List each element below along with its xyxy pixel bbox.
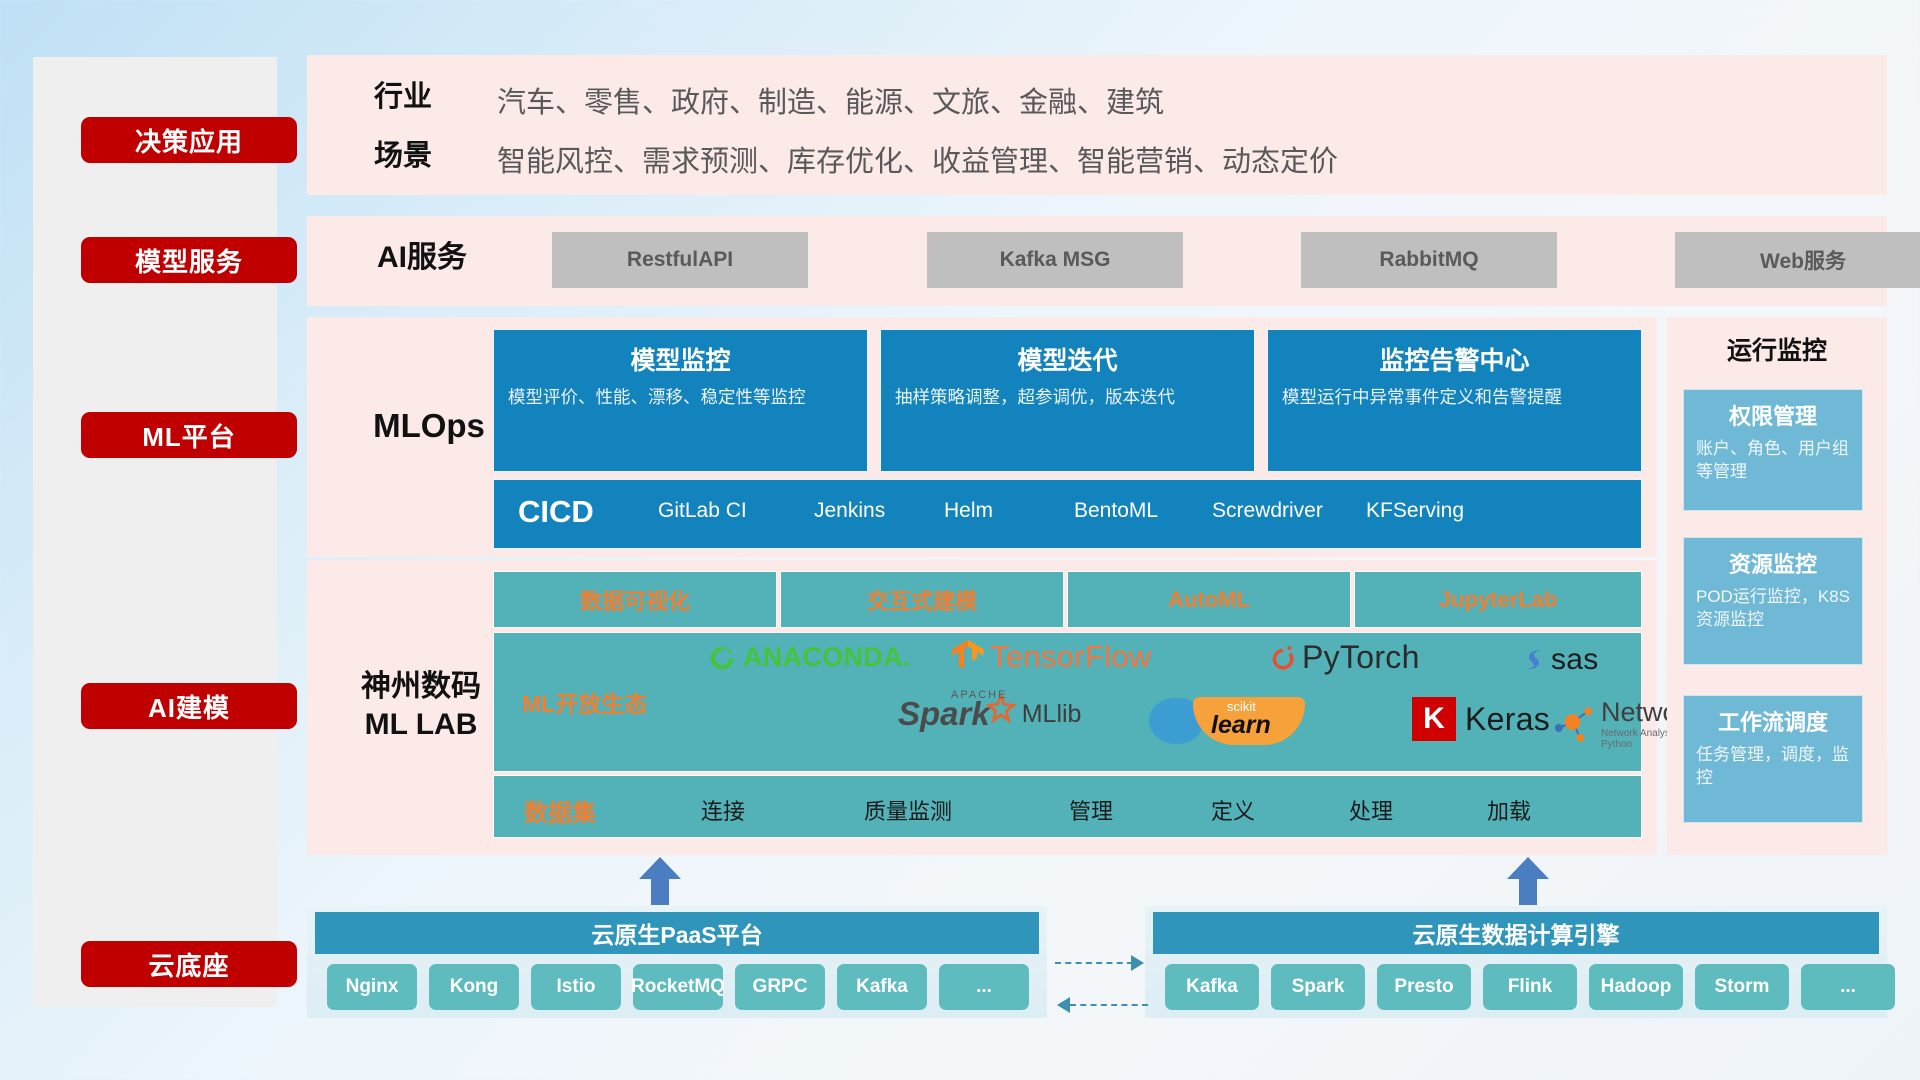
- mlops-card-model-iteration[interactable]: 模型迭代 抽样策略调整，超参调优，版本迭代: [880, 329, 1255, 472]
- service-item-restfulapi[interactable]: RestfulAPI: [552, 232, 808, 288]
- rail-item-ai-modeling[interactable]: AI建模: [81, 683, 297, 729]
- rail-item-cloud-base[interactable]: 云底座: [81, 941, 297, 987]
- ml-lab-label: 神州数码 ML LAB: [321, 668, 521, 743]
- modeling-tab-jupyterlab[interactable]: JupyterLab: [1354, 571, 1642, 628]
- tensorflow-logo: TensorFlow: [952, 639, 1152, 675]
- anaconda-logo-text: ANACONDA.: [743, 642, 911, 673]
- mlops-panel: MLOps 模型监控 模型评价、性能、漂移、稳定性等监控 模型迭代 抽样策略调整…: [307, 317, 1657, 557]
- scikit-learn-mark: scikit learn: [1193, 697, 1305, 745]
- cicd-item-bentoml[interactable]: BentoML: [1074, 498, 1192, 523]
- cicd-title: CICD: [518, 494, 594, 530]
- paas-block: 云原生PaaS平台 Nginx Kong Istio RocketMQ GRPC…: [307, 906, 1047, 1018]
- service-layer-panel: AI服务 RestfulAPI Kafka MSG RabbitMQ Web服务: [307, 216, 1887, 306]
- left-rail: 决策应用 模型服务 ML平台 AI建模 云底座: [33, 57, 277, 1007]
- paas-title: 云原生PaaS平台: [315, 912, 1039, 954]
- compute-chip-presto[interactable]: Presto: [1377, 964, 1471, 1010]
- scenario-label: 场景: [333, 138, 473, 174]
- spark-mllib-logo: APACHE Spark MLlib: [898, 695, 1081, 733]
- industry-label: 行业: [333, 79, 473, 115]
- dataset-item-process[interactable]: 处理: [1349, 794, 1393, 826]
- dataset-item-quality[interactable]: 质量监测: [864, 794, 952, 826]
- card-desc: POD运行监控，K8S资源监控: [1696, 586, 1852, 632]
- paas-chip-istio[interactable]: Istio: [531, 964, 621, 1010]
- runtime-monitor-title: 运行监控: [1667, 331, 1887, 367]
- card-title: 资源监控: [1684, 547, 1862, 579]
- card-desc: 账户、角色、用户组等管理: [1696, 438, 1852, 484]
- runtime-monitor-panel: 运行监控 权限管理 账户、角色、用户组等管理 资源监控 POD运行监控，K8S资…: [1667, 317, 1887, 855]
- compute-title: 云原生数据计算引擎: [1153, 912, 1879, 954]
- application-layer-panel: 行业 汽车、零售、政府、制造、能源、文旅、金融、建筑 场景 智能风控、需求预测、…: [307, 55, 1887, 195]
- dataset-item-load[interactable]: 加载: [1487, 794, 1531, 826]
- card-title: 监控告警中心: [1268, 341, 1641, 377]
- modeling-panel: 神州数码 ML LAB 数据可视化 交互式建模 AutoML JupyterLa…: [307, 560, 1657, 855]
- keras-logo: K Keras: [1412, 697, 1550, 741]
- monitor-card-resource[interactable]: 资源监控 POD运行监控，K8S资源监控: [1683, 537, 1863, 665]
- diagram-canvas: 决策应用 模型服务 ML平台 AI建模 云底座 行业 汽车、零售、政府、制造、能…: [0, 0, 1920, 1080]
- compute-chip-storm[interactable]: Storm: [1695, 964, 1789, 1010]
- dataset-item-manage[interactable]: 管理: [1069, 794, 1113, 826]
- industry-value: 汽车、零售、政府、制造、能源、文旅、金融、建筑: [497, 79, 1164, 121]
- rail-item-model-service[interactable]: 模型服务: [81, 237, 297, 283]
- paas-chip-kafka[interactable]: Kafka: [837, 964, 927, 1010]
- cicd-item-screwdriver[interactable]: Screwdriver: [1212, 498, 1330, 523]
- spark-apache-text: APACHE: [951, 689, 1007, 701]
- compute-chip-kafka[interactable]: Kafka: [1165, 964, 1259, 1010]
- service-item-web-service[interactable]: Web服务: [1675, 232, 1920, 288]
- cicd-item-kfserving[interactable]: KFServing: [1366, 498, 1484, 523]
- rail-item-ml-platform[interactable]: ML平台: [81, 412, 297, 458]
- ml-lab-line2: ML LAB: [365, 708, 478, 741]
- card-title: 权限管理: [1684, 399, 1862, 431]
- monitor-card-workflow[interactable]: 工作流调度 任务管理，调度，监控: [1683, 695, 1863, 823]
- card-desc: 模型运行中异常事件定义和告警提醒: [1282, 385, 1629, 410]
- keras-mark-letter: K: [1423, 702, 1445, 736]
- ml-ecosystem-band: ML开放生态 ANACONDA. TensorFlow: [493, 632, 1642, 772]
- modeling-tab-data-visualization[interactable]: 数据可视化: [493, 571, 777, 628]
- card-desc: 抽样策略调整，超参调优，版本迭代: [895, 385, 1242, 410]
- cicd-item-jenkins[interactable]: Jenkins: [814, 498, 932, 523]
- keras-mark: K: [1412, 697, 1456, 741]
- modeling-tab-interactive-modeling[interactable]: 交互式建模: [780, 571, 1064, 628]
- anaconda-logo: ANACONDA.: [708, 642, 911, 673]
- card-title: 模型监控: [494, 341, 867, 377]
- cicd-item-helm[interactable]: Helm: [944, 498, 1062, 523]
- ml-ecosystem-label: ML开放生态: [522, 685, 647, 719]
- mllib-logo-text: MLlib: [1022, 700, 1082, 729]
- service-item-rabbitmq[interactable]: RabbitMQ: [1301, 232, 1557, 288]
- sas-logo: sas: [1519, 643, 1599, 677]
- pytorch-logo: PyTorch: [1269, 639, 1420, 676]
- sas-logo-text: sas: [1551, 643, 1599, 677]
- dataset-label: 数据集: [524, 793, 596, 828]
- pytorch-logo-text: PyTorch: [1302, 639, 1420, 676]
- dataset-item-connect[interactable]: 连接: [701, 794, 745, 826]
- service-item-kafka-msg[interactable]: Kafka MSG: [927, 232, 1183, 288]
- scikit-learn-logo: scikit learn: [1149, 697, 1305, 745]
- scenario-value: 智能风控、需求预测、库存优化、收益管理、智能营销、动态定价: [497, 138, 1338, 180]
- card-title: 工作流调度: [1684, 705, 1862, 737]
- tensorflow-logo-text: TensorFlow: [990, 639, 1152, 675]
- compute-block: 云原生数据计算引擎 Kafka Spark Presto Flink Hadoo…: [1145, 906, 1887, 1018]
- cicd-item-gitlab-ci[interactable]: GitLab CI: [658, 498, 776, 523]
- compute-chip-hadoop[interactable]: Hadoop: [1589, 964, 1683, 1010]
- compute-chip-flink[interactable]: Flink: [1483, 964, 1577, 1010]
- paas-chip-grpc[interactable]: GRPC: [735, 964, 825, 1010]
- card-desc: 任务管理，调度，监控: [1696, 744, 1852, 790]
- paas-chip-kong[interactable]: Kong: [429, 964, 519, 1010]
- paas-chip-nginx[interactable]: Nginx: [327, 964, 417, 1010]
- paas-chip-more[interactable]: ...: [939, 964, 1029, 1010]
- learn-text: learn: [1211, 711, 1271, 740]
- card-title: 模型迭代: [881, 341, 1254, 377]
- compute-chip-more[interactable]: ...: [1801, 964, 1895, 1010]
- keras-logo-text: Keras: [1465, 701, 1550, 738]
- monitor-card-permission[interactable]: 权限管理 账户、角色、用户组等管理: [1683, 389, 1863, 511]
- ai-service-label: AI服务: [327, 239, 517, 277]
- dataset-item-define[interactable]: 定义: [1211, 794, 1255, 826]
- ml-lab-line1: 神州数码: [361, 670, 481, 703]
- mlops-card-alert-center[interactable]: 监控告警中心 模型运行中异常事件定义和告警提醒: [1267, 329, 1642, 472]
- compute-chip-spark[interactable]: Spark: [1271, 964, 1365, 1010]
- cicd-bar: CICD GitLab CI Jenkins Helm BentoML Scre…: [493, 479, 1642, 549]
- rail-item-decision-app[interactable]: 决策应用: [81, 117, 297, 163]
- mlops-card-model-monitor[interactable]: 模型监控 模型评价、性能、漂移、稳定性等监控: [493, 329, 868, 472]
- paas-chip-rocketmq[interactable]: RocketMQ: [633, 964, 723, 1010]
- dataset-band: 数据集 连接 质量监测 管理 定义 处理 加载: [493, 775, 1642, 838]
- modeling-tab-automl[interactable]: AutoML: [1067, 571, 1351, 628]
- card-desc: 模型评价、性能、漂移、稳定性等监控: [508, 385, 855, 410]
